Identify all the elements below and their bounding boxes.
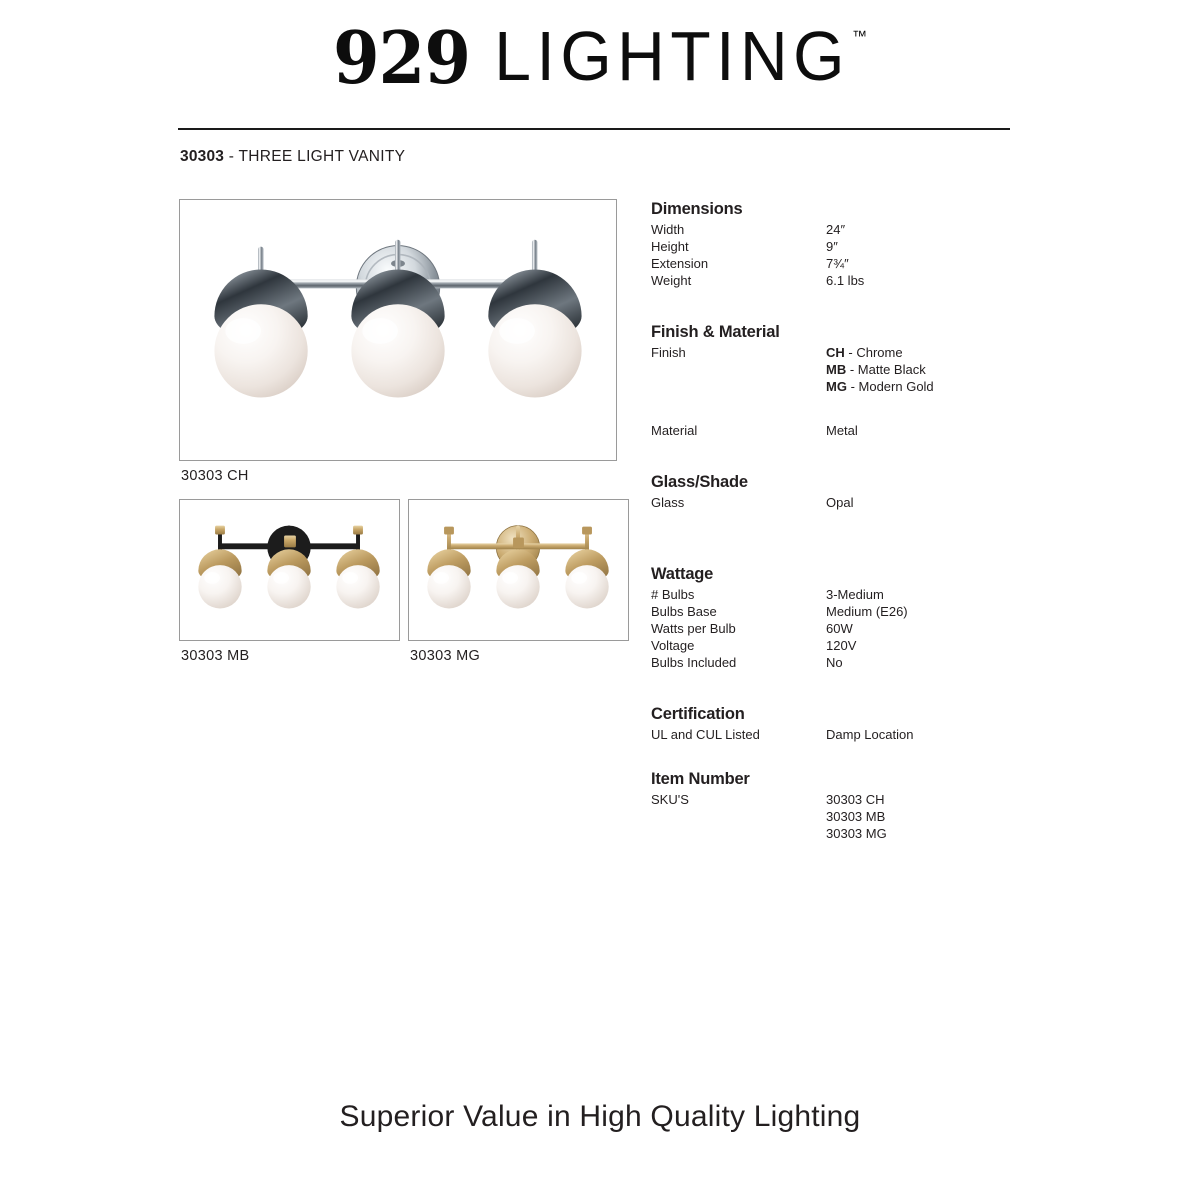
spec-value: 6.1 lbs <box>826 272 1051 289</box>
finish-option-ch: CH - Chrome <box>826 344 1051 361</box>
spec-value: Damp Location <box>826 726 1051 743</box>
page-title: 30303 - THREE LIGHT VANITY <box>180 148 405 166</box>
spec-row-width: Width 24″ <box>651 221 1051 238</box>
product-image-matte-black <box>179 499 400 641</box>
spec-row-num-bulbs: # Bulbs 3-Medium <box>651 586 1051 603</box>
spec-row-finish: Finish CH - Chrome MB - Matte Black MG -… <box>651 344 1051 395</box>
spec-row-skus: SKU'S 30303 CH 30303 MB 30303 MG <box>651 791 1051 842</box>
finish-option-mg: MG - Modern Gold <box>826 378 1051 395</box>
spec-label: Material <box>651 422 826 439</box>
product-separator: - <box>224 148 238 165</box>
spec-section-item-number: Item Number SKU'S 30303 CH 30303 MB 3030… <box>651 770 1051 842</box>
spec-value: 7¾″ <box>826 255 1051 272</box>
fixture-illustration-mb <box>180 500 399 640</box>
finish-code: CH <box>826 345 845 360</box>
finish-dash: - <box>846 362 858 377</box>
finish-option-mb: MB - Matte Black <box>826 361 1051 378</box>
spacer <box>651 743 1051 770</box>
header-divider <box>178 128 1010 130</box>
image-caption-ch: 30303 CH <box>181 468 249 484</box>
spec-section-glass-shade: Glass/Shade Glass Opal <box>651 473 1051 511</box>
spec-value: Metal <box>826 422 1051 439</box>
logo-lighting-text: LIGHTING <box>494 18 850 94</box>
spec-row-watts-per-bulb: Watts per Bulb 60W <box>651 620 1051 637</box>
spec-value: Medium (E26) <box>826 603 1051 620</box>
spec-row-bulbs-included: Bulbs Included No <box>651 654 1051 671</box>
logo-929-text: 929 <box>333 22 470 94</box>
spec-section-dimensions: Dimensions Width 24″ Height 9″ Extension… <box>651 200 1051 289</box>
spacer <box>651 395 1051 422</box>
section-heading-glass-shade: Glass/Shade <box>651 473 1051 492</box>
section-heading-certification: Certification <box>651 705 1051 724</box>
spec-value-sku-list: 30303 CH 30303 MB 30303 MG <box>826 791 1051 842</box>
spec-section-wattage: Wattage # Bulbs 3-Medium Bulbs Base Medi… <box>651 565 1051 671</box>
section-heading-item-number: Item Number <box>651 770 1051 789</box>
finish-name: Chrome <box>856 345 902 360</box>
spec-value: 9″ <box>826 238 1051 255</box>
spec-label: # Bulbs <box>651 586 826 603</box>
spec-label: SKU'S <box>651 791 826 842</box>
spacer <box>651 671 1051 705</box>
spec-label: Voltage <box>651 637 826 654</box>
spacer <box>651 289 1051 323</box>
spec-label: Width <box>651 221 826 238</box>
spec-label: UL and CUL Listed <box>651 726 826 743</box>
spec-value: No <box>826 654 1051 671</box>
brand-logo: 929 LIGHTING ™ <box>0 22 1200 94</box>
spec-label: Height <box>651 238 826 255</box>
spec-label: Finish <box>651 344 826 395</box>
trademark-symbol: ™ <box>852 28 867 45</box>
spec-row-material: Material Metal <box>651 422 1051 439</box>
spec-row-extension: Extension 7¾″ <box>651 255 1051 272</box>
spec-value: Opal <box>826 494 1051 511</box>
spec-label: Extension <box>651 255 826 272</box>
sku-item: 30303 MG <box>826 825 1051 842</box>
spec-row-ul-cul: UL and CUL Listed Damp Location <box>651 726 1051 743</box>
finish-name: Matte Black <box>858 362 926 377</box>
section-heading-finish-material: Finish & Material <box>651 323 1051 342</box>
product-image-chrome <box>179 199 617 461</box>
finish-dash: - <box>847 379 859 394</box>
spec-value-finish-options: CH - Chrome MB - Matte Black MG - Modern… <box>826 344 1051 395</box>
sku-item: 30303 CH <box>826 791 1051 808</box>
finish-dash: - <box>845 345 857 360</box>
image-caption-mg: 30303 MG <box>410 648 480 664</box>
product-name: THREE LIGHT VANITY <box>239 148 406 165</box>
spec-label: Glass <box>651 494 826 511</box>
spacer <box>651 511 1051 565</box>
spec-section-finish-material: Finish & Material Finish CH - Chrome MB … <box>651 323 1051 439</box>
spec-row-glass: Glass Opal <box>651 494 1051 511</box>
spec-label: Bulbs Base <box>651 603 826 620</box>
spec-label: Watts per Bulb <box>651 620 826 637</box>
spec-row-bulbs-base: Bulbs Base Medium (E26) <box>651 603 1051 620</box>
spec-row-voltage: Voltage 120V <box>651 637 1051 654</box>
finish-name: Modern Gold <box>859 379 934 394</box>
product-image-modern-gold <box>408 499 629 641</box>
sku-item: 30303 MB <box>826 808 1051 825</box>
product-code: 30303 <box>180 148 224 165</box>
image-caption-mb: 30303 MB <box>181 648 250 664</box>
footer-tagline: Superior Value in High Quality Lighting <box>0 1100 1200 1134</box>
specifications-panel: Dimensions Width 24″ Height 9″ Extension… <box>651 200 1051 842</box>
spec-row-weight: Weight 6.1 lbs <box>651 272 1051 289</box>
finish-code: MB <box>826 362 846 377</box>
spec-value: 24″ <box>826 221 1051 238</box>
finish-code: MG <box>826 379 847 394</box>
spec-value: 120V <box>826 637 1051 654</box>
spec-label: Weight <box>651 272 826 289</box>
fixture-illustration-ch <box>180 200 616 460</box>
spacer <box>651 439 1051 473</box>
spec-row-height: Height 9″ <box>651 238 1051 255</box>
spec-value: 60W <box>826 620 1051 637</box>
fixture-illustration-mg <box>409 500 628 640</box>
section-heading-dimensions: Dimensions <box>651 200 1051 219</box>
spec-value: 3-Medium <box>826 586 1051 603</box>
spec-section-certification: Certification UL and CUL Listed Damp Loc… <box>651 705 1051 743</box>
section-heading-wattage: Wattage <box>651 565 1051 584</box>
spec-label: Bulbs Included <box>651 654 826 671</box>
